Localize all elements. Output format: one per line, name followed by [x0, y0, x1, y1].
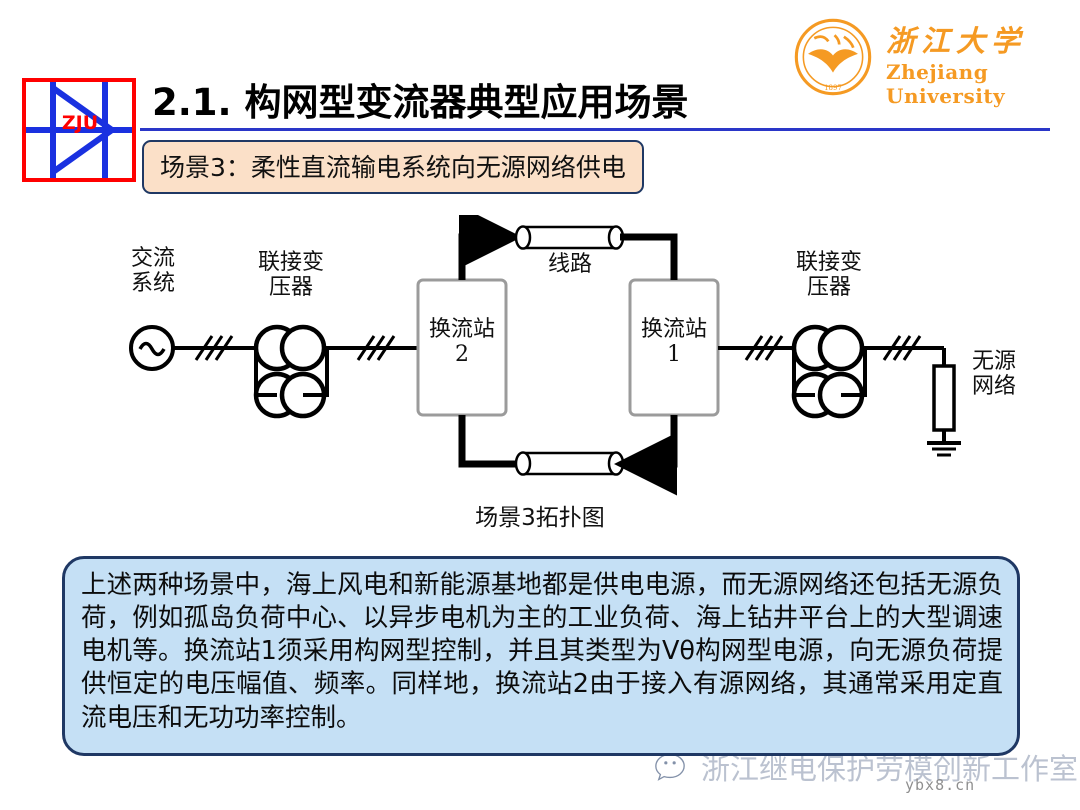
explanation-note-text: 上述两种场景中，海上风电和新能源基地都是供电电源，而无源网络还包括无源负荷，例如…	[81, 569, 1003, 735]
university-logo: 1897 浙江大学 Zhejiang University	[794, 16, 1044, 98]
university-emblem-icon: 1897	[794, 18, 872, 96]
scenario-banner: 场景3：柔性直流输电系统向无源网络供电	[142, 140, 644, 194]
slide-root: ZJU 2.1. 构网型变流器典型应用场景 场景3：柔性直流输电系统向无源网络供…	[0, 0, 1080, 810]
diagram-caption: 场景3拓扑图	[0, 498, 1080, 532]
watermark-text: 浙江继电保护劳模创新工作室	[701, 746, 1078, 788]
zju-logo-mark: ZJU	[22, 78, 136, 182]
watermark-url: ybx8.cn	[905, 776, 975, 794]
university-name-cn: 浙江大学	[886, 18, 1026, 60]
wechat-icon	[655, 752, 695, 782]
university-name-en: Zhejiang University	[886, 60, 1044, 108]
label-converter-station-2: 换流站 2	[414, 318, 510, 367]
label-line: 线路	[524, 253, 616, 278]
label-ac-system: 交流 系统	[117, 247, 189, 296]
label-converter-station-1: 换流站 1	[626, 318, 722, 367]
page-title: 2.1. 构网型变流器典型应用场景	[152, 72, 688, 126]
topology-diagram: 交流 系统 联接变 压器 换流站 2 线路 换流站 1 联接变 压器 无源 网络…	[0, 215, 1080, 535]
label-passive-network: 无源 网络	[972, 350, 1044, 399]
title-underline-rule	[140, 128, 1050, 131]
zju-mark-text: ZJU	[52, 112, 108, 134]
label-transformer-left: 联接变 压器	[243, 251, 339, 300]
svg-text:1897: 1897	[824, 83, 842, 92]
watermark: 浙江继电保护劳模创新工作室 ybx8.cn	[655, 748, 1075, 806]
label-transformer-right: 联接变 压器	[781, 251, 877, 300]
explanation-note-box: 上述两种场景中，海上风电和新能源基地都是供电电源，而无源网络还包括无源负荷，例如…	[62, 556, 1020, 756]
